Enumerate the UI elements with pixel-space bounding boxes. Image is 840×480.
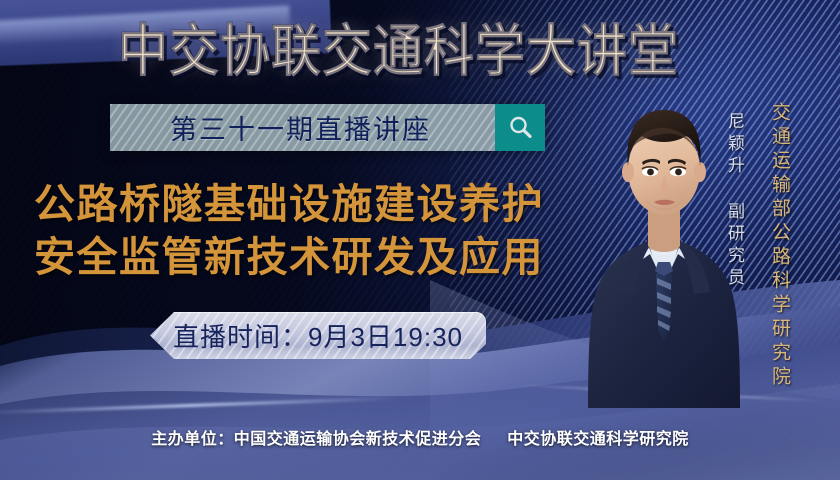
speaker-name-title: 尼颖升 副研究员 bbox=[722, 112, 747, 290]
lecture-title: 公路桥隧基础设施建设养护 安全监管新技术研发及应用 bbox=[34, 178, 544, 284]
episode-banner: 第三十一期直播讲座 bbox=[110, 104, 545, 151]
live-stream-poster: 中交协联交通科学大讲堂 第三十一期直播讲座 公路桥隧基础设施建设养护 安全监管新… bbox=[0, 0, 840, 480]
search-icon[interactable] bbox=[495, 104, 545, 151]
episode-label: 第三十一期直播讲座 bbox=[110, 104, 495, 151]
speaker-portrait bbox=[588, 78, 740, 408]
lecture-title-line-2: 安全监管新技术研发及应用 bbox=[34, 231, 544, 284]
footer-prefix: 主办单位： bbox=[151, 431, 234, 448]
lecture-title-line-1: 公路桥隧基础设施建设养护 bbox=[34, 181, 544, 227]
page-title: 中交协联交通科学大讲堂 bbox=[118, 18, 679, 85]
footer-organizer-2: 中交协联交通科学研究院 bbox=[507, 431, 689, 448]
speaker-organization: 交通运输部公路科学研究院 bbox=[766, 102, 793, 390]
footer-organizers: 主办单位：中国交通运输协会新技术促进分会中交协联交通科学研究院 bbox=[0, 425, 840, 449]
broadcast-time-badge: 直播时间：9月3日19:30 bbox=[150, 312, 486, 359]
broadcast-time-text: 直播时间：9月3日19:30 bbox=[173, 317, 463, 354]
footer-organizer-1: 中国交通运输协会新技术促进分会 bbox=[234, 431, 482, 448]
